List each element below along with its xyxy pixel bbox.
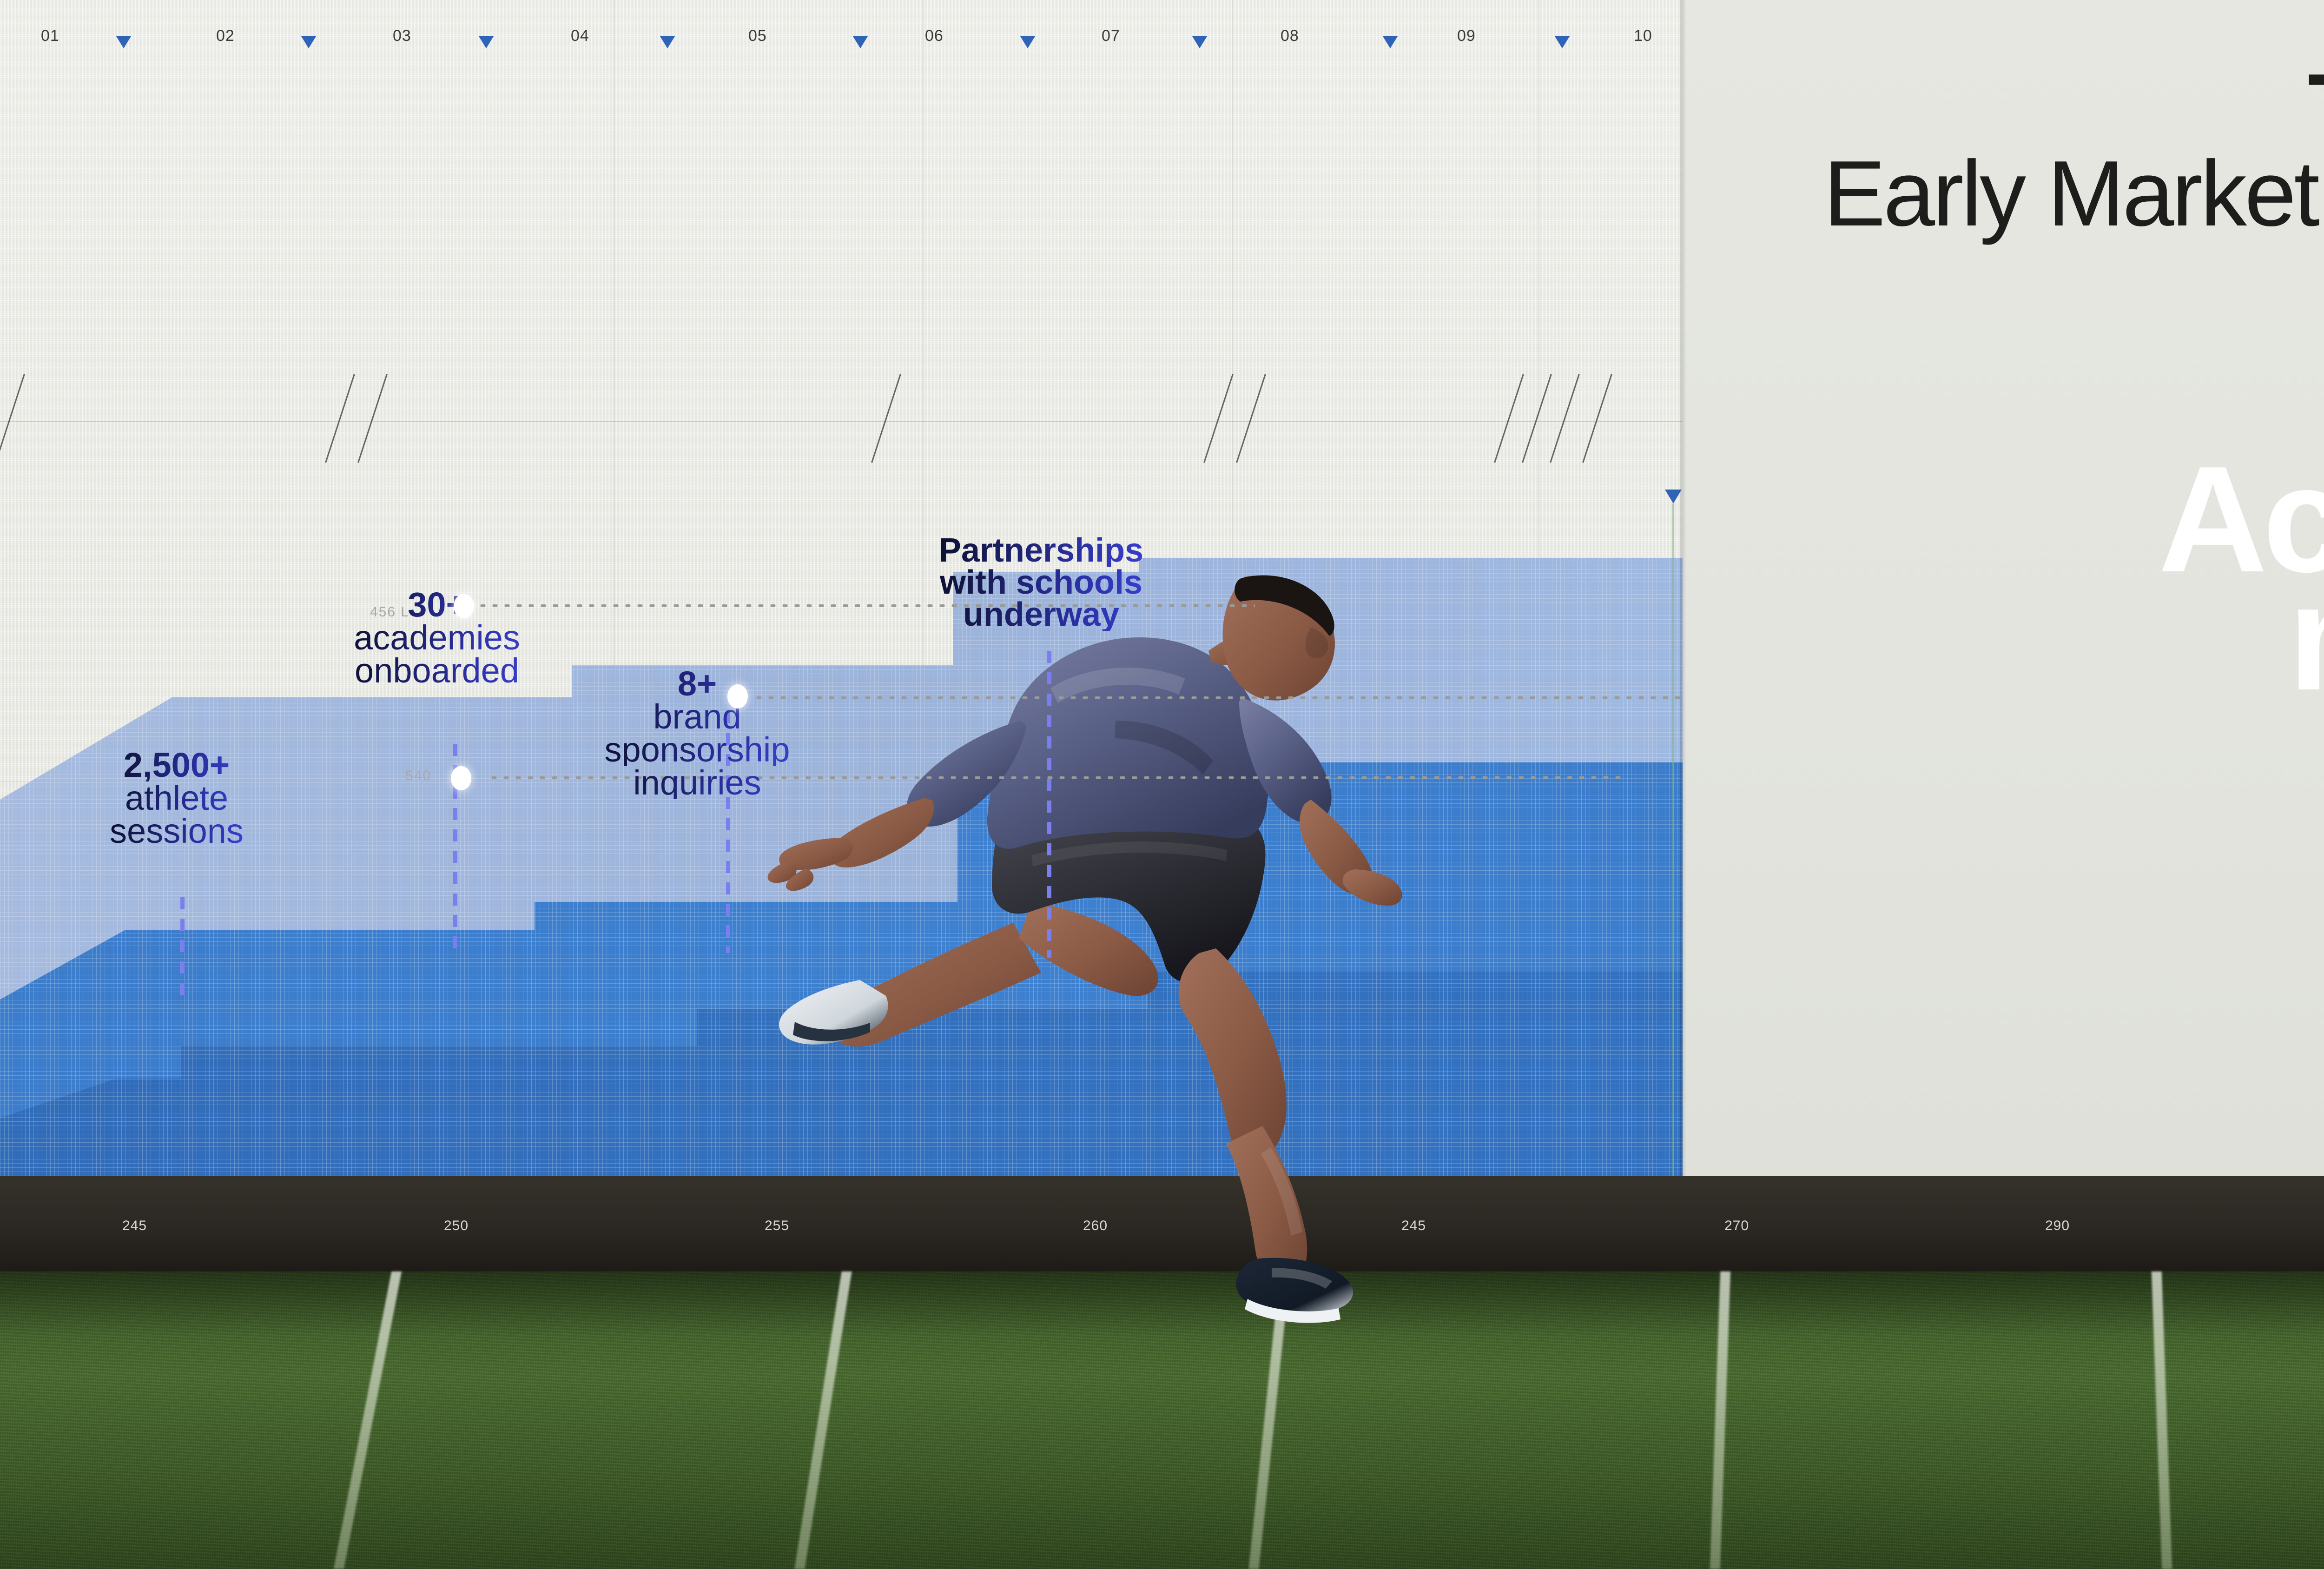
kpi-value: 2,500+ (93, 748, 260, 781)
kpi-label-line: underway (909, 599, 1174, 631)
kpi-annotation-1: 2,500+ athlete sessions (93, 748, 260, 847)
triangle-down-icon (479, 36, 494, 48)
axis-tick-label: 250 (444, 1218, 469, 1234)
ruler-tick-label: 03 (393, 27, 411, 45)
page-subtitle: KPIs & Milestones (1823, 258, 2324, 291)
triangle-down-icon (853, 36, 868, 48)
leader-line-dotted (753, 696, 1683, 699)
triangle-down-icon (1192, 36, 1207, 48)
top-ruler: 01 02 03 04 05 06 07 08 09 10 (0, 0, 2324, 70)
triangle-down-icon (1020, 36, 1035, 48)
kpi-annotation-3: 8+ brand sponsorship inquiries (576, 667, 818, 799)
runner-athlete-photo (706, 502, 1822, 1437)
page-title-line-1: Traction – (1823, 60, 2324, 153)
kpi-label-line: brand (576, 700, 818, 733)
kpi-value: Partnerships (909, 535, 1174, 567)
triangle-down-icon (1383, 36, 1398, 48)
ruler-tick-label: 05 (748, 27, 767, 45)
page-title-line-2: Early Market Validation (1823, 145, 2324, 243)
ruler-tick-label: 04 (571, 27, 589, 45)
triangle-down-icon (301, 36, 316, 48)
connector-dashed (1047, 651, 1051, 958)
kpi-value: 30+ (325, 588, 548, 621)
triangle-down-marker-icon (1665, 490, 1682, 503)
ruler-tick-label: 06 (925, 27, 944, 45)
kpi-label-line: with schools (909, 567, 1174, 599)
axis-tick-label: 245 (122, 1218, 147, 1234)
achievements-watermark: Achieve ments (2158, 460, 2324, 696)
kpi-label-line: sponsorship (576, 733, 818, 766)
kpi-value: 8+ (576, 667, 818, 700)
kpi-label-line: academies (325, 621, 548, 654)
field-line (2152, 1271, 2172, 1569)
ruler-tick-label: 09 (1457, 27, 1476, 45)
kpi-label-line: athlete (93, 781, 260, 814)
ruler-tick-label: 10 (1634, 27, 1652, 45)
data-point-marker[interactable] (451, 766, 471, 790)
slide-root: 01 02 03 04 05 06 07 08 09 10 (0, 0, 2324, 1569)
kpi-annotation-4: Partnerships with schools underway (909, 535, 1174, 631)
kpi-label-line: onboarded (325, 654, 548, 687)
faint-value-label: 540 (405, 768, 431, 784)
triangle-down-icon (1555, 36, 1570, 48)
triangle-down-icon (116, 36, 131, 48)
ruler-tick-label: 02 (216, 27, 235, 45)
ruler-tick-label: 08 (1281, 27, 1299, 45)
connector-dashed (180, 897, 185, 995)
field-line (334, 1271, 402, 1569)
kpi-annotation-2: 30+ academies onboarded (325, 588, 548, 687)
kpi-label-line: sessions (93, 814, 260, 847)
kpi-label-line: inquiries (576, 766, 818, 799)
data-point-marker[interactable] (727, 684, 748, 708)
ruler-tick-label: 07 (1102, 27, 1120, 45)
data-point-marker[interactable] (454, 594, 474, 618)
axis-tick-label: 290 (2045, 1218, 2070, 1234)
title-block: Traction – Early Market Validation KPIs … (1823, 60, 2324, 291)
ruler-tick-label: 01 (41, 27, 59, 45)
triangle-down-icon (660, 36, 675, 48)
